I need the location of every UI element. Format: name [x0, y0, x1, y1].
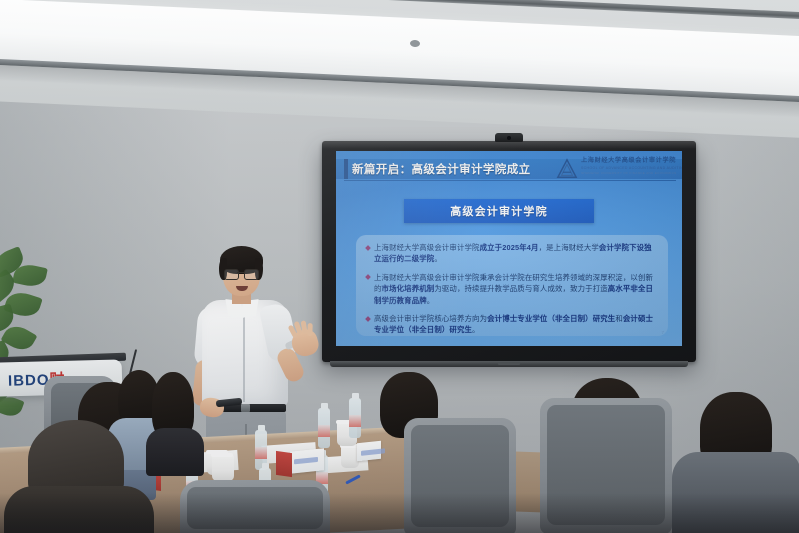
glasses-lens-left-icon [224, 269, 239, 280]
display-screen: 新篇开启：高级会计审计学院成立 上海财经大学高级会计审计学院 SCHOOL OF… [336, 151, 682, 346]
slide-header: 新篇开启：高级会计审计学院成立 上海财经大学高级会计审计学院 SCHOOL OF… [336, 159, 682, 185]
presenter-shirt-placket [243, 310, 245, 402]
logo-chinese-name: 上海财经大学高级会计审计学院 [581, 157, 675, 165]
slide-page-number: 7 [661, 330, 664, 335]
slide-body-card: 上海财经大学高级会计审计学院成立于2025年4月，是上海财经大学会计学院下设独立… [356, 235, 668, 336]
name-tent-card [357, 441, 381, 462]
logo-english-university: SHANGHAI UNIVERSITY OF FINANCE AND ECONO… [581, 171, 675, 176]
logo-text-block: 上海财经大学高级会计审计学院 SCHOOL OF ADVANCED ACCOUN… [581, 157, 675, 176]
water-bottle [318, 408, 330, 448]
name-tent-card [290, 448, 324, 474]
display-bezel-sheen [322, 141, 696, 149]
triangle-a-emblem-icon [556, 158, 578, 180]
glasses-lens-right-icon [244, 269, 259, 280]
attendee-body [4, 486, 154, 533]
conference-room-photo: 新篇开启：高级会计审计学院成立 上海财经大学高级会计审计学院 SCHOOL OF… [0, 0, 799, 533]
school-logo: 上海财经大学高级会计审计学院 SCHOOL OF ADVANCED ACCOUN… [556, 157, 676, 183]
paper-cup [212, 455, 234, 481]
office-chair [540, 398, 672, 533]
attendee-body [146, 428, 204, 476]
office-chair [180, 480, 330, 533]
slide-bullet-2: 上海财经大学高级会计审计学院秉承会计学院在研究生培养领域的深厚积淀，以创新的市场… [366, 272, 658, 306]
water-bottle [349, 398, 361, 438]
office-chair [404, 418, 516, 533]
slide-title-text: 高级会计审计学院 [450, 203, 548, 219]
slide-bullet-3: 高级会计审计学院核心培养方向为会计博士专业学位（非全日制）研究生和会计硕士专业学… [366, 313, 658, 336]
name-tent-card [276, 451, 292, 477]
wall-display[interactable]: 新篇开启：高级会计审计学院成立 上海财经大学高级会计审计学院 SCHOOL OF… [322, 141, 696, 362]
slide-header-title: 新篇开启：高级会计审计学院成立 [352, 161, 531, 177]
webcam-icon [495, 133, 523, 142]
slide-bullet-1: 上海财经大学高级会计审计学院成立于2025年4月，是上海财经大学会计学院下设独立… [366, 242, 658, 265]
webcam-lens-icon [507, 136, 511, 140]
display-ir-sensor-icon [498, 362, 520, 365]
attendee-body [672, 452, 799, 533]
slide-header-accent [344, 159, 348, 179]
belt-buckle-icon [241, 404, 250, 412]
slide-title-bar: 高级会计审计学院 [404, 199, 594, 223]
glasses-bridge-icon [237, 272, 244, 273]
